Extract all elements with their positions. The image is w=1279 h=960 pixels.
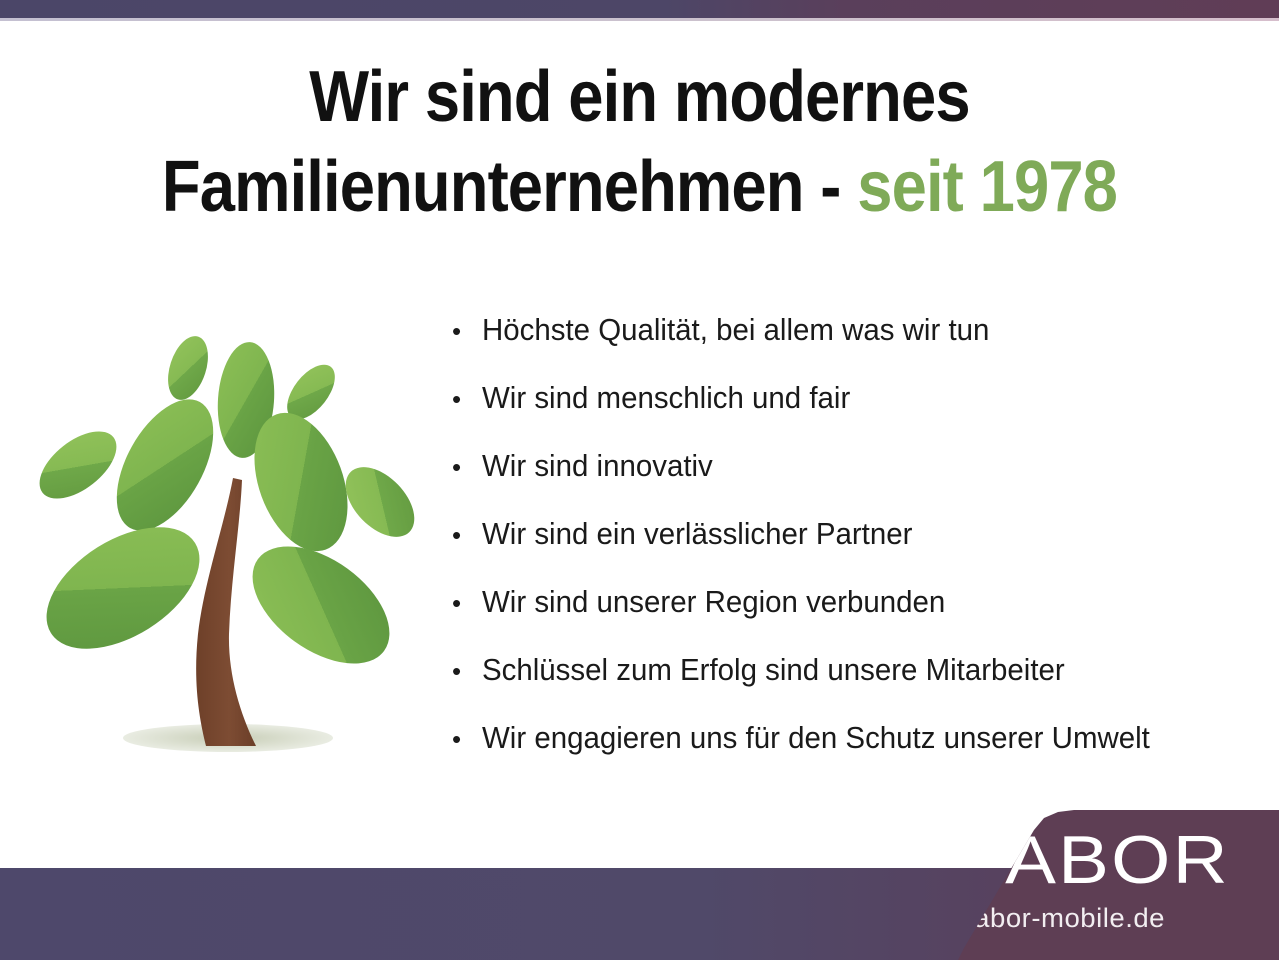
page-title-accent: seit 1978 (857, 147, 1117, 227)
brand-website: tabor-mobile.de (966, 902, 1165, 934)
list-item-label: Wir sind menschlich und fair (482, 364, 850, 432)
value-list: • Höchste Qualität, bei allem was wir tu… (452, 296, 1272, 772)
list-item: • Wir sind ein verlässlicher Partner (452, 500, 1272, 568)
list-item: • Wir sind unserer Region verbunden (452, 568, 1272, 636)
list-item-label: Wir engagieren uns für den Schutz unsere… (482, 704, 1150, 772)
page-title-line-1: Wir sind ein modernes (77, 52, 1203, 142)
list-item-label: Höchste Qualität, bei allem was wir tun (482, 296, 989, 364)
bullet-marker-icon: • (452, 501, 482, 569)
list-item-label: Wir sind ein verlässlicher Partner (482, 500, 912, 568)
bullet-marker-icon: • (452, 569, 482, 637)
bullet-marker-icon: • (452, 637, 482, 705)
page-title-line-2-main: Familienunternehmen - (162, 147, 857, 227)
top-accent-bar (0, 0, 1279, 18)
top-accent-bar-underline (0, 18, 1279, 21)
bullet-marker-icon: • (452, 365, 482, 433)
list-item-label: Wir sind innovativ (482, 432, 713, 500)
list-item: • Höchste Qualität, bei allem was wir tu… (452, 296, 1272, 364)
list-item: • Schlüssel zum Erfolg sind unsere Mitar… (452, 636, 1272, 704)
bullet-marker-icon: • (452, 705, 482, 773)
slide-canvas: Wir sind ein modernes Familienunternehme… (0, 0, 1279, 960)
list-item: • Wir sind innovativ (452, 432, 1272, 500)
list-item: • Wir sind menschlich und fair (452, 364, 1272, 432)
brand-wordmark: TABOR (962, 824, 1230, 896)
bullet-marker-icon: • (452, 433, 482, 501)
page-title: Wir sind ein modernes Familienunternehme… (77, 52, 1203, 232)
bullet-marker-icon: • (452, 297, 482, 365)
list-item: • Wir engagieren uns für den Schutz unse… (452, 704, 1272, 772)
list-item-label: Schlüssel zum Erfolg sind unsere Mitarbe… (482, 636, 1065, 704)
list-item-label: Wir sind unserer Region verbunden (482, 568, 945, 636)
tree-illustration (28, 330, 432, 760)
tree-trunk (196, 478, 256, 746)
page-title-line-2: Familienunternehmen - seit 1978 (77, 142, 1203, 232)
